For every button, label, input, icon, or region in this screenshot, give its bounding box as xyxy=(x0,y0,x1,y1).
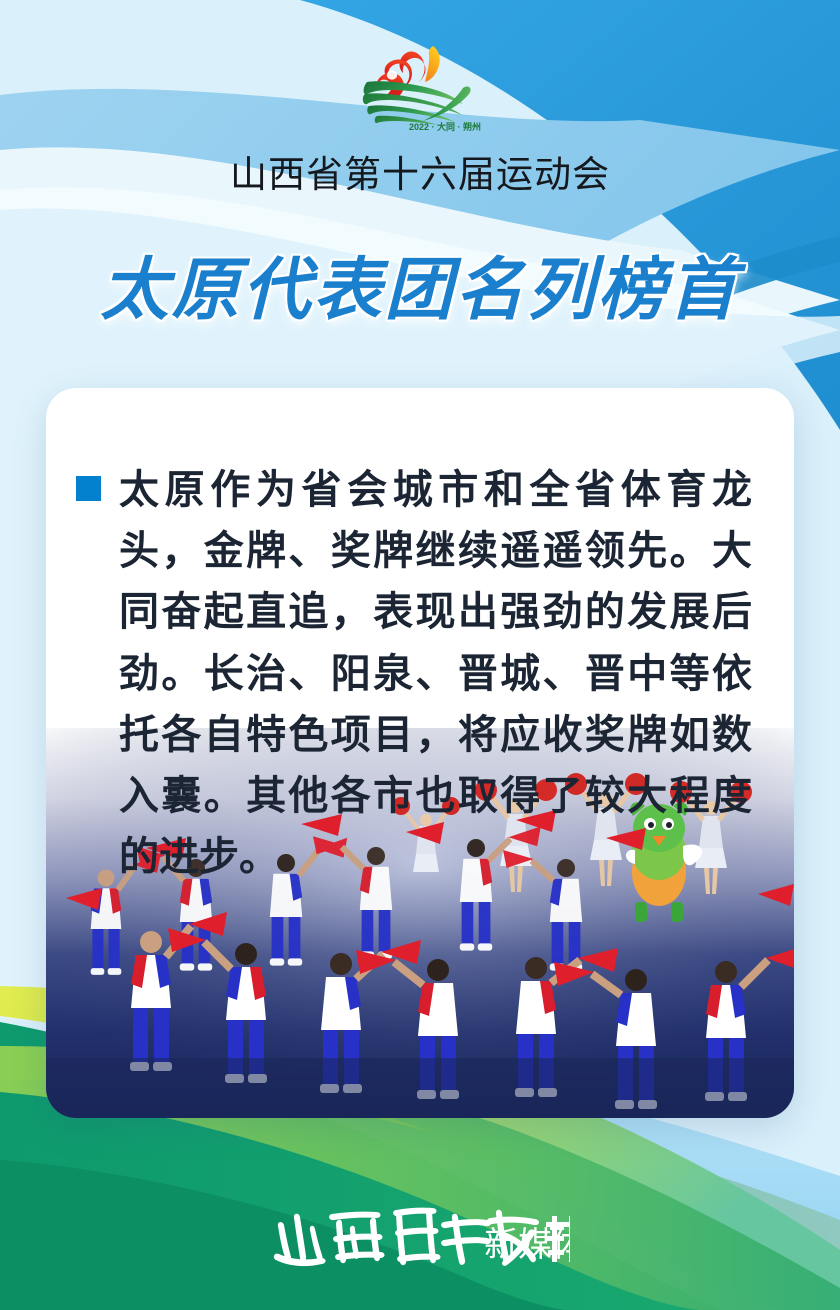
emblem-year-line: 2022 · 大同 · 朔州 xyxy=(409,121,481,132)
summary-paragraph-block: 太原作为省会城市和全省体育龙头，金牌、奖牌继续遥遥领先。大同奋起直追，表现出强劲… xyxy=(46,388,794,888)
summary-paragraph: 太原作为省会城市和全省体育龙头，金牌、奖牌继续遥遥领先。大同奋起直追，表现出强劲… xyxy=(119,460,752,888)
emblem-svg: 2022 · 大同 · 朔州 xyxy=(345,42,495,134)
shanxi-games-emblem-icon: 2022 · 大同 · 朔州 xyxy=(345,42,495,134)
bullet-square-icon xyxy=(76,476,101,501)
poster-root: 2022 · 大同 · 朔州 山西省第十六届运动会 太原代表团名列榜首 xyxy=(0,0,840,1310)
publisher-brand: 新媒体 xyxy=(0,1204,840,1282)
page-title: 太原代表团名列榜首 xyxy=(0,234,840,333)
brand-logo-svg: 新媒体 xyxy=(270,1204,570,1282)
brand-sub-label: 新媒体 xyxy=(484,1226,570,1264)
content-card: 太原作为省会城市和全省体育龙头，金牌、奖牌继续遥遥领先。大同奋起直追，表现出强劲… xyxy=(46,388,794,1118)
poster-header: 2022 · 大同 · 朔州 山西省第十六届运动会 太原代表团名列榜首 xyxy=(0,0,840,333)
event-subtitle: 山西省第十六届运动会 xyxy=(0,144,840,198)
